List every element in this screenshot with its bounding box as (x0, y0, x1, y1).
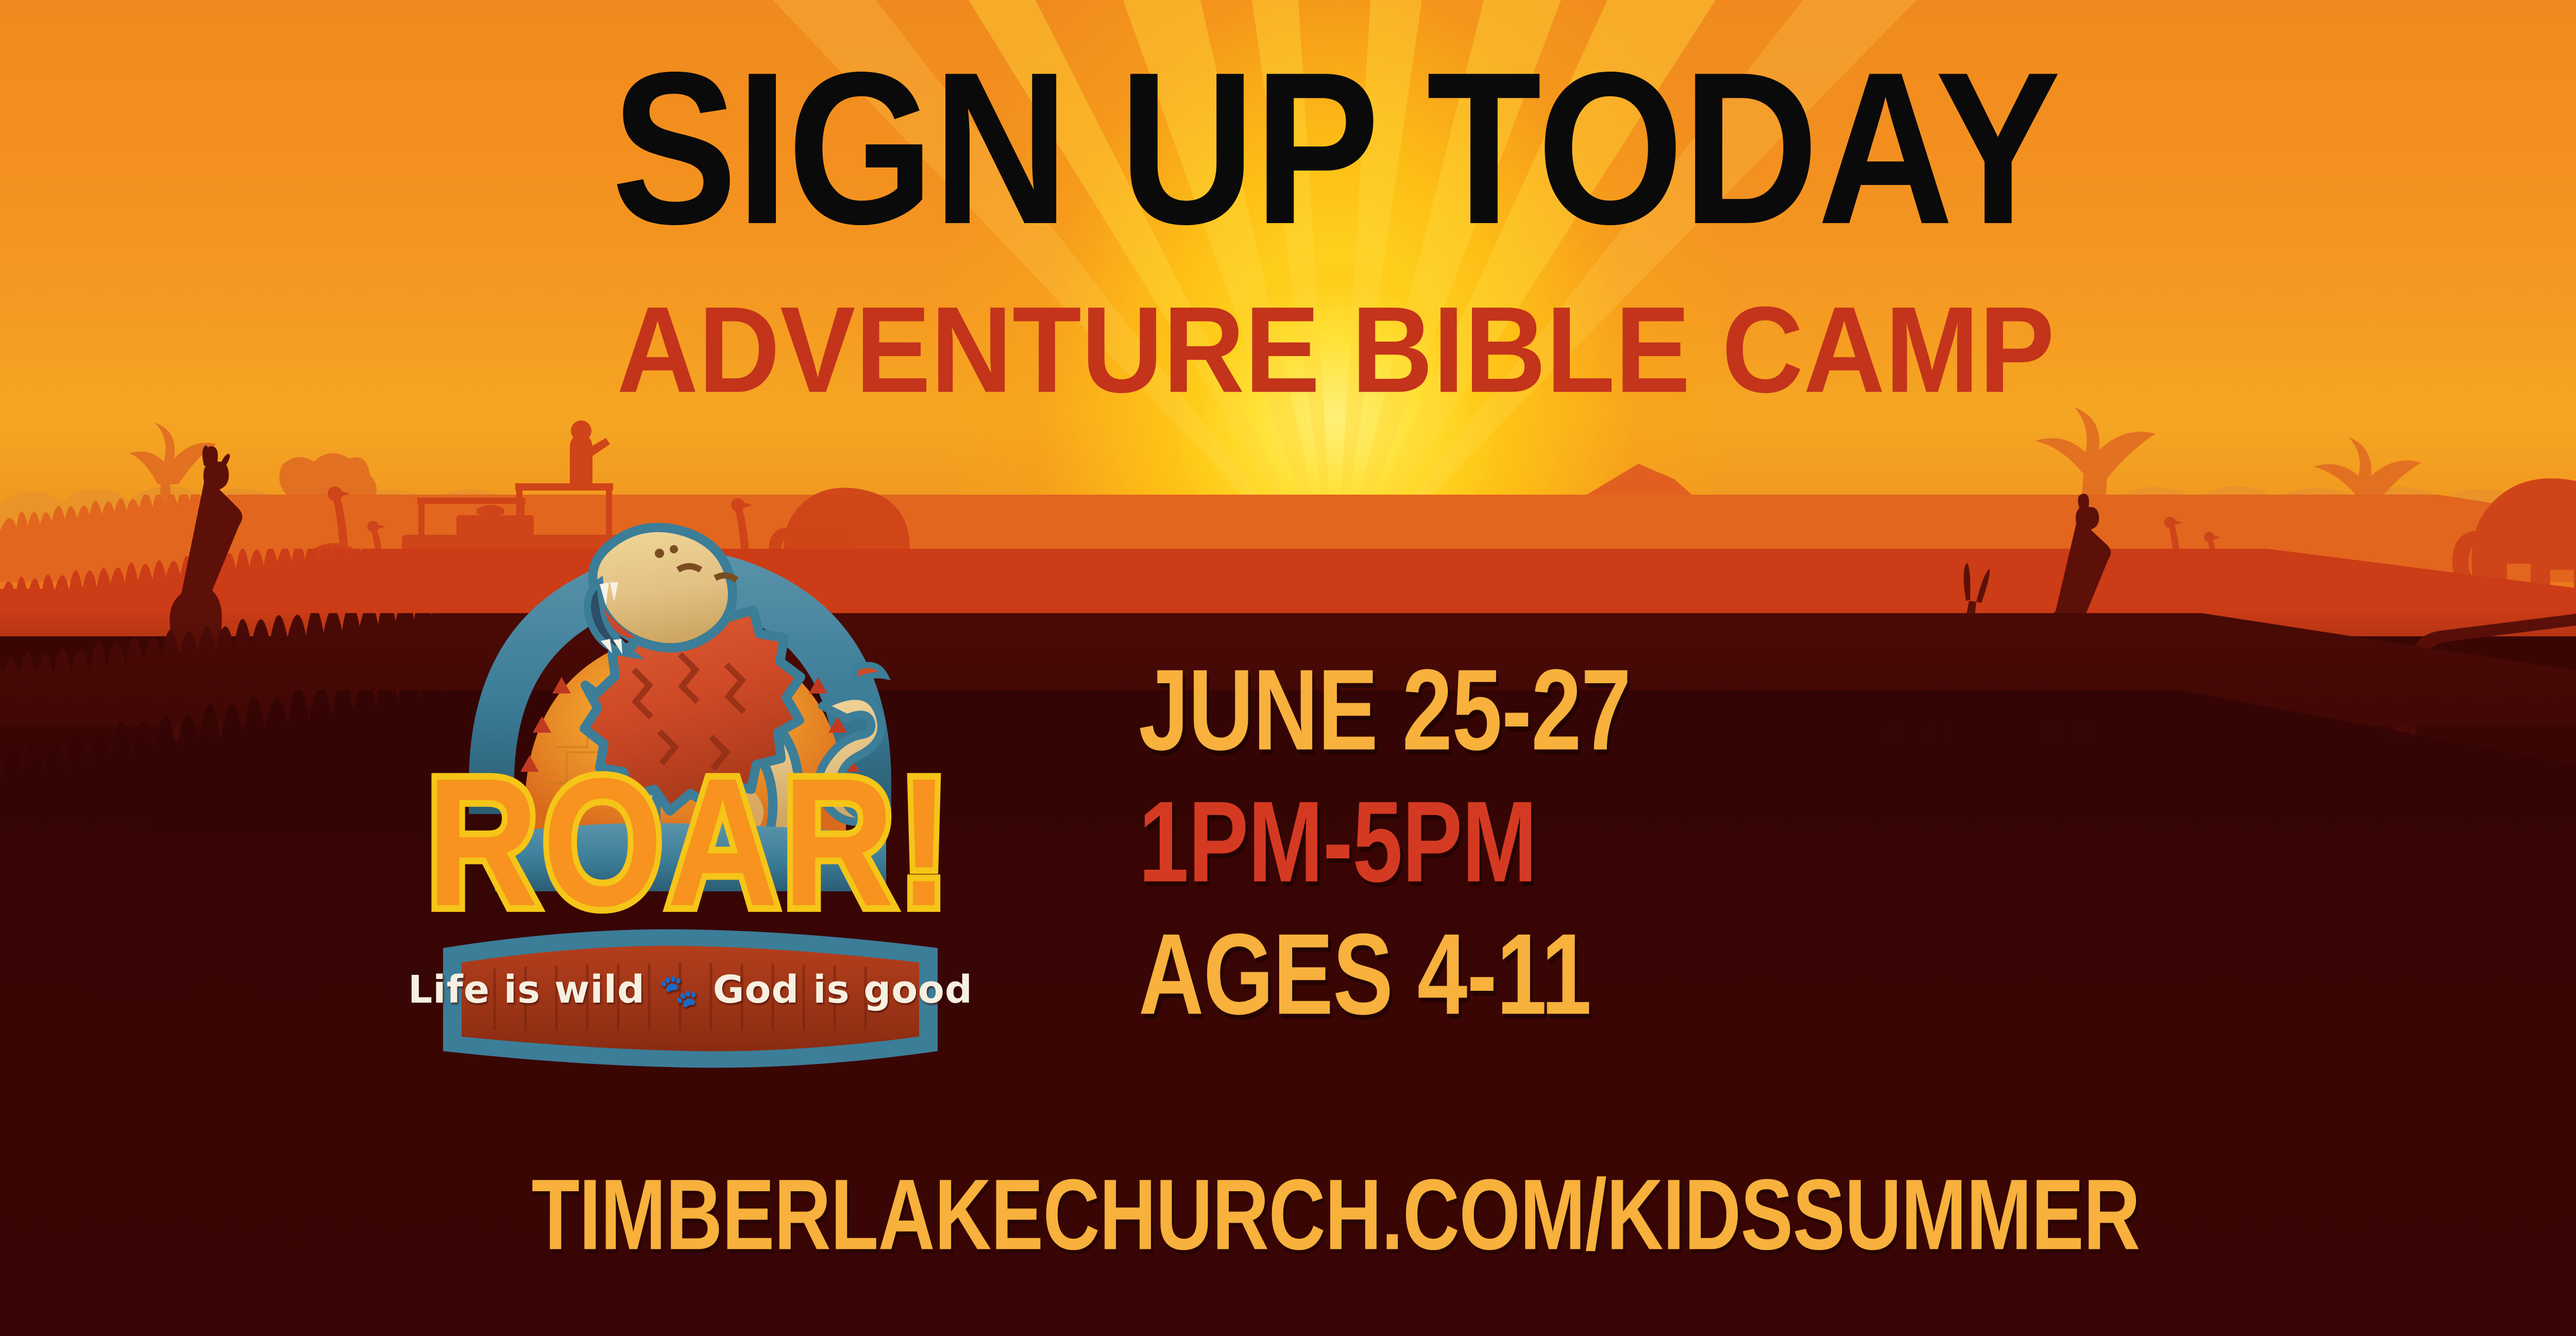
page-title: SIGN UP TODAY (0, 49, 2576, 248)
roar-vbs-logo: ROAR! Life is wild 🐾 God is good (392, 428, 989, 1087)
tagline-left-text: Life is wild (408, 968, 645, 1012)
paw-print-icon: 🐾 (659, 972, 699, 1009)
logo-stone-base (495, 823, 886, 891)
lion-nose-dot (670, 545, 678, 553)
promo-banner: SIGN UP TODAY ADVENTURE BIBLE CAMP JUNE … (0, 0, 2576, 1336)
logo-tagline: Life is wild 🐾 God is good (392, 968, 989, 1012)
event-ages: AGES 4-11 (1139, 888, 1591, 1060)
lion-head (587, 528, 737, 654)
lion-eye (678, 566, 701, 570)
lion-nose-dot (655, 549, 664, 558)
page-subtitle: ADVENTURE BIBLE CAMP (0, 289, 2576, 411)
tagline-right-text: God is good (713, 968, 973, 1012)
signup-url[interactable]: TIMBERLAKECHURCH.COM/KIDSSUMMER (0, 1157, 2576, 1273)
event-details: JUNE 25-27 1PM-5PM AGES 4-11 (1139, 644, 1621, 1040)
